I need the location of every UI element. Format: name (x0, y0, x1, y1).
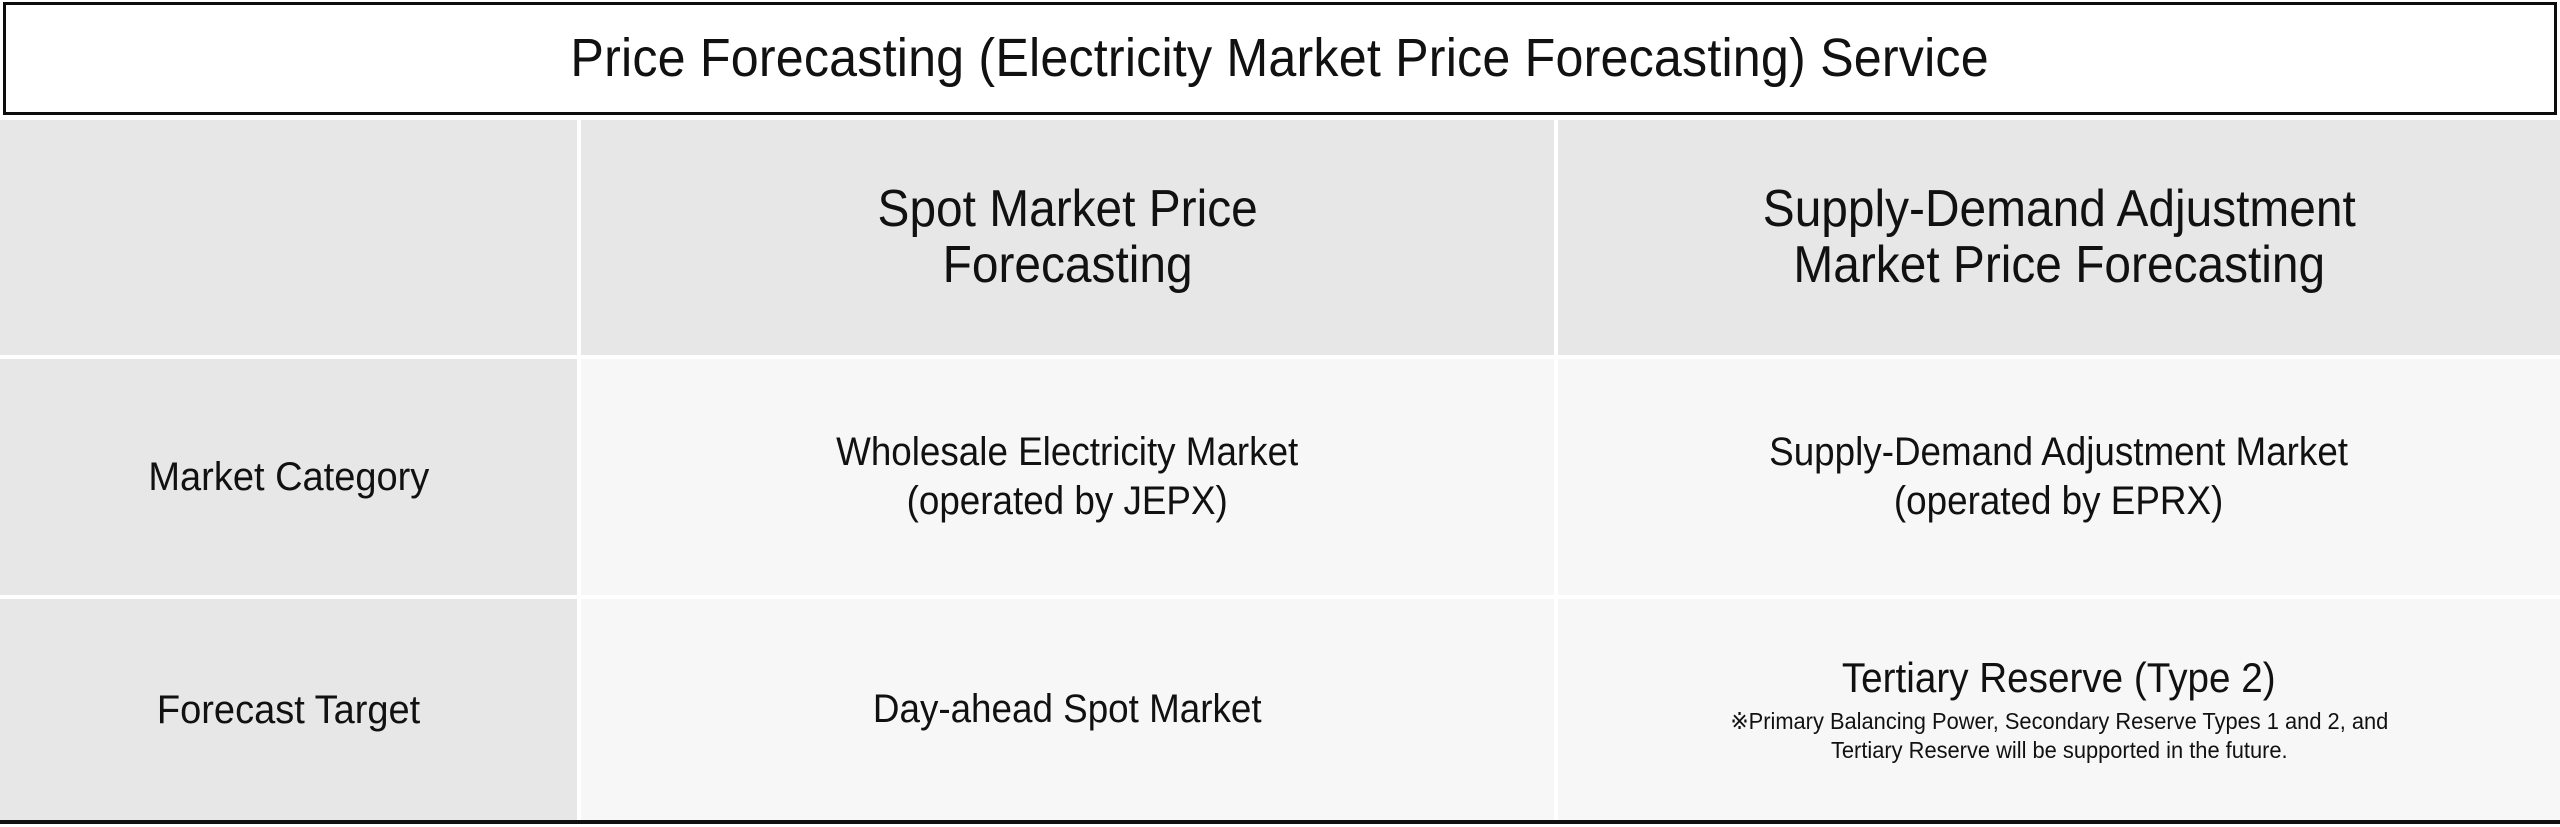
page-title: Price Forecasting (Electricity Market Pr… (571, 30, 1989, 87)
cell-market-category-spot: Wholesale Electricity Market (operated b… (581, 359, 1554, 596)
row-label-market-category: Market Category (0, 359, 577, 596)
cell-forecast-target-spot: Day-ahead Spot Market (581, 599, 1554, 820)
bottom-divider (0, 820, 2560, 824)
comparison-table: Spot Market Price Forecasting Supply-Dem… (0, 120, 2560, 820)
header-label-spot-market: Spot Market Price Forecasting (877, 181, 1257, 293)
cell-text: Supply-Demand Adjustment Market (operate… (1770, 428, 2349, 526)
table-row: Forecast Target Day-ahead Spot Market Te… (0, 599, 2560, 820)
header-corner-cell (0, 120, 577, 355)
cell-market-category-supply-demand: Supply-Demand Adjustment Market (operate… (1558, 359, 2560, 596)
row-label-forecast-target: Forecast Target (0, 599, 577, 820)
cell-text: Wholesale Electricity Market (operated b… (836, 428, 1298, 526)
header-cell-supply-demand: Supply-Demand Adjustment Market Price Fo… (1558, 120, 2560, 355)
title-banner: Price Forecasting (Electricity Market Pr… (3, 2, 2557, 115)
header-label-supply-demand: Supply-Demand Adjustment Market Price Fo… (1762, 181, 2355, 293)
table-row: Market Category Wholesale Electricity Ma… (0, 359, 2560, 596)
cell-text: Tertiary Reserve (Type 2) (1842, 653, 2276, 703)
table-header-row: Spot Market Price Forecasting Supply-Dem… (0, 120, 2560, 355)
row-label-text: Market Category (148, 454, 429, 500)
row-label-text: Forecast Target (157, 687, 420, 733)
header-cell-spot-market: Spot Market Price Forecasting (581, 120, 1554, 355)
cell-text: Day-ahead Spot Market (873, 685, 1262, 734)
cell-forecast-target-supply-demand: Tertiary Reserve (Type 2) ※Primary Balan… (1558, 599, 2560, 820)
cell-content-stack: Tertiary Reserve (Type 2) ※Primary Balan… (1576, 653, 2542, 765)
cell-footnote: ※Primary Balancing Power, Secondary Rese… (1730, 707, 2388, 766)
slide-canvas: Price Forecasting (Electricity Market Pr… (0, 0, 2560, 827)
